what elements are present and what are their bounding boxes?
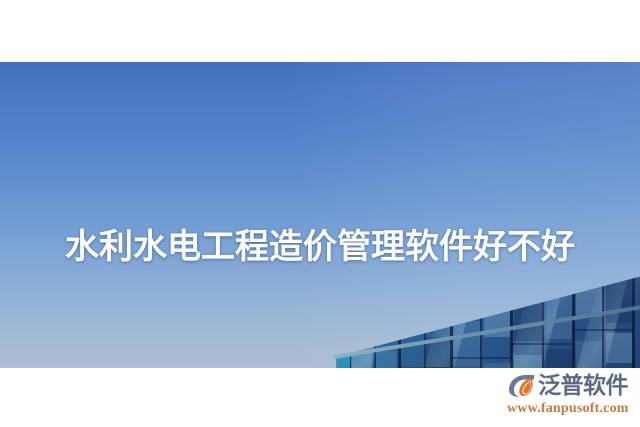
brand-name: 泛普软件 [538,373,628,399]
brand-url: www.fanpusoft.com [507,400,629,417]
brand-logo[interactable]: 泛普软件 www.fanpusoft.com [506,372,638,418]
hero-image: 水利水电工程造价管理软件好不好 [0,62,640,368]
brand-logo-row: 泛普软件 [506,372,628,400]
fanpu-swoosh-logo-icon [506,373,536,399]
page-title: 水利水电工程造价管理软件好不好 [0,228,640,268]
top-white-band [0,0,640,62]
screenshot-root: 水利水电工程造价管理软件好不好 泛普软件 www.fanpusoft.com [0,0,640,427]
